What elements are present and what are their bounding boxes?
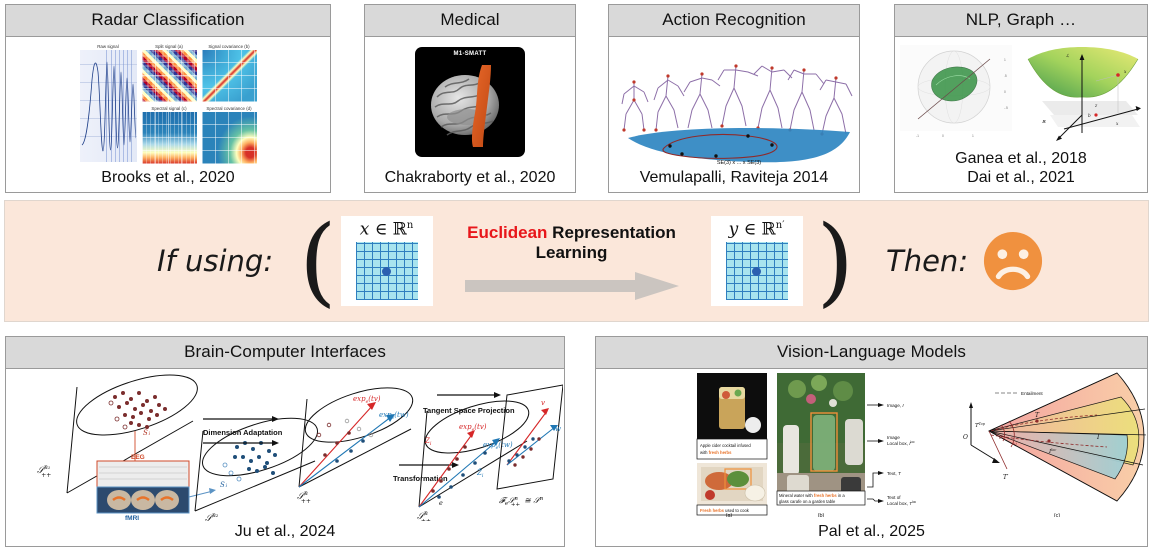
covariance-column: Split signal (a) Signal covariance (b) S… bbox=[142, 43, 257, 164]
hyperbolic-surface-plot: ℒ x x ℝ b z bbox=[1020, 41, 1146, 146]
label-exp-tw-1: expe(tw) bbox=[379, 411, 409, 421]
panel-caption-medical: Chakraborty et al., 2020 bbox=[365, 167, 575, 192]
svg-text:with fresh herbs: with fresh herbs bbox=[700, 450, 732, 455]
svg-text:1: 1 bbox=[1004, 58, 1006, 62]
label-image-local-box: Image bbox=[887, 435, 900, 440]
transform-arrow-icon bbox=[447, 272, 697, 300]
skeleton-manifold-figure: SE(3) x ... x SE(3) bbox=[612, 40, 857, 165]
learning-word: Learning bbox=[447, 243, 697, 263]
output-grid-illustration bbox=[726, 242, 788, 300]
output-space-math: y ∈ ℝn′ bbox=[729, 220, 785, 239]
label-spd-n2: 𝒮n₂++ bbox=[205, 512, 219, 521]
label-text-local-box: Text of bbox=[887, 495, 901, 500]
heatmap-signal-covariance bbox=[202, 50, 257, 102]
panel-figure-medical: M1-SMATT bbox=[365, 37, 575, 167]
label-tangent-space: 𝓕e𝒮n++≅ 𝒮n bbox=[499, 496, 544, 508]
panel-caption-action: Vemulapalli, Raviteja 2014 bbox=[609, 167, 859, 192]
panel-action-recognition: Action Recognition bbox=[608, 4, 860, 193]
skeleton bbox=[622, 82, 648, 130]
svg-text:Local box, Iloc: Local box, Iloc bbox=[887, 440, 915, 446]
svg-text:ω: ω bbox=[1013, 442, 1017, 447]
panel-figure-action: SE(3) x ... x SE(3) bbox=[609, 37, 859, 167]
svg-text:0: 0 bbox=[942, 134, 944, 138]
heatmap-spectral-covariance bbox=[202, 112, 257, 164]
panel-title-bci: Brain-Computer Interfaces bbox=[6, 337, 564, 369]
label-raw-signal: Raw signal bbox=[80, 43, 137, 50]
output-grid-point bbox=[752, 267, 761, 276]
label-split-signal: Split signal (a) bbox=[142, 43, 197, 50]
panel-medical: Medical M1-SMATT bbox=[364, 4, 576, 193]
label-tangent-space-projection: Tangent Space Projection bbox=[423, 406, 515, 415]
label-zi-1: Zi bbox=[424, 437, 432, 447]
label-signal-covariance: Signal covariance (b) bbox=[202, 43, 257, 50]
label-fmri: fMRI bbox=[125, 515, 139, 521]
svg-text:Apple cider cocktail infused: Apple cider cocktail infused bbox=[700, 443, 751, 448]
input-grid-illustration bbox=[356, 242, 418, 300]
panel-title-medical: Medical bbox=[365, 5, 575, 37]
input-space-math: x ∈ ℝn bbox=[360, 220, 414, 239]
panel-figure-vlm: Apple cider cocktail infused with fresh … bbox=[596, 369, 1147, 521]
raw-signal-plot bbox=[80, 50, 137, 162]
svg-text:-.5: -.5 bbox=[1004, 106, 1008, 110]
panel-title-action: Action Recognition bbox=[609, 5, 859, 37]
label-text-t: Text, T bbox=[887, 471, 902, 476]
euclidean-banner: If using: ( x ∈ ℝn Euclidean Representat… bbox=[4, 200, 1149, 322]
panel-nlp-graph: NLP, Graph … 1.5 0-.5 -101 bbox=[894, 4, 1148, 193]
brain-image: M1-SMATT bbox=[415, 47, 525, 157]
panel-caption-vlm: Pal et al., 2025 bbox=[596, 521, 1147, 546]
svg-text:.5: .5 bbox=[1004, 74, 1007, 78]
label-v-vector: v bbox=[541, 399, 545, 407]
representation-learning-label: Euclidean Representation Learning bbox=[447, 223, 697, 300]
label-eeg: EEG bbox=[131, 454, 145, 461]
label-subfig-b: (b) bbox=[818, 513, 825, 517]
label-exp-tv-1: expe(tv) bbox=[353, 395, 381, 405]
label-entailment: Entailment bbox=[1021, 391, 1043, 396]
label-se3: SE(3) x ... x SE(3) bbox=[716, 160, 760, 166]
label-spectral-signal: Spectral signal (c) bbox=[142, 105, 197, 112]
bci-pipeline-diagram: S i 𝒮n₁++ EEG fMRI bbox=[7, 369, 563, 521]
panel-caption-radar: Brooks et al., 2020 bbox=[6, 167, 330, 192]
panel-title-nlp: NLP, Graph … bbox=[895, 5, 1147, 37]
label-spd-n-2: 𝒮n++ bbox=[417, 510, 431, 521]
poincare-ball-plot: 1.5 0-.5 -101 bbox=[896, 41, 1016, 146]
label-origin: O bbox=[963, 434, 968, 441]
svg-text:ℝ: ℝ bbox=[1042, 119, 1046, 124]
panel-caption-nlp-2: Dai et al., 2021 bbox=[895, 169, 1147, 192]
euclidean-highlight: Euclidean bbox=[467, 223, 547, 242]
svg-text:0: 0 bbox=[1004, 90, 1006, 94]
svg-text:Mineral water with fresh herbs: Mineral water with fresh herbs in a bbox=[779, 493, 845, 498]
panel-figure-bci: S i 𝒮n₁++ EEG fMRI bbox=[6, 369, 564, 521]
label-spd-n1: 𝒮n₁++ bbox=[37, 464, 51, 479]
panel-caption-bci: Ju et al., 2024 bbox=[6, 521, 564, 546]
svg-text:glass carafe on a garden table: glass carafe on a garden table bbox=[779, 499, 836, 504]
input-space-card: x ∈ ℝn bbox=[341, 216, 433, 306]
input-grid-point bbox=[382, 267, 391, 276]
label-w-vector: w bbox=[555, 425, 561, 433]
label-si-bottom: S i bbox=[220, 481, 228, 489]
banner-if-using-label: If using: bbox=[157, 244, 273, 278]
nlp-figure-art: 1.5 0-.5 -101 bbox=[896, 41, 1146, 146]
vlm-figure-diagram: Apple cider cocktail infused with fresh … bbox=[597, 369, 1146, 517]
label-e-point: e bbox=[439, 499, 443, 507]
label-subfig-c: (c) bbox=[1054, 513, 1061, 517]
label-dimension-adaptation: Dimension Adaptation bbox=[203, 428, 283, 437]
label-t-prime: T′ bbox=[1003, 474, 1009, 481]
banner-then-label: Then: bbox=[886, 244, 968, 278]
label-t-top: TTop bbox=[975, 422, 986, 429]
svg-text:1: 1 bbox=[972, 134, 974, 138]
panel-radar-classification: Radar Classification Raw signal bbox=[5, 4, 331, 193]
label-spd-n-1: 𝒮n++ bbox=[297, 490, 311, 505]
panel-figure-radar: Raw signal Split signal bbox=[6, 37, 330, 167]
svg-text:b: b bbox=[1088, 113, 1091, 118]
label-image-i: Image, I bbox=[887, 403, 904, 408]
svg-text:-1: -1 bbox=[916, 134, 919, 138]
sad-face-icon bbox=[982, 230, 1044, 292]
panel-title-vlm: Vision-Language Models bbox=[596, 337, 1147, 369]
svg-text:Local box, Tloc: Local box, Tloc bbox=[887, 500, 917, 506]
label-spectral-covariance: Spectral covariance (d) bbox=[202, 105, 257, 112]
panel-figure-nlp: 1.5 0-.5 -101 bbox=[895, 37, 1147, 148]
output-space-card: y ∈ ℝn′ bbox=[711, 216, 803, 306]
brain-illustration bbox=[415, 47, 525, 157]
label-exp-tv-2: expe(tv) bbox=[459, 423, 487, 433]
radar-figure-art: Raw signal Split signal bbox=[80, 41, 257, 164]
panel-vlm: Vision-Language Models Apple cider cockt… bbox=[595, 336, 1148, 547]
representation-word: Representation bbox=[547, 223, 675, 242]
label-zi-2: Ẑi bbox=[476, 468, 484, 479]
label-subfig-a: (a) bbox=[726, 513, 733, 517]
raw-signal-block: Raw signal bbox=[80, 43, 137, 162]
heatmap-spectral-signal bbox=[142, 112, 197, 164]
label-m1-smatt: M1-SMATT bbox=[415, 51, 525, 57]
heatmap-split-signal bbox=[142, 50, 197, 102]
panel-bci: Brain-Computer Interfaces S i 𝒮n₁ bbox=[5, 336, 565, 547]
panel-title-radar: Radar Classification bbox=[6, 5, 330, 37]
label-si-top: S i bbox=[143, 429, 151, 437]
svg-text:θ: θ bbox=[999, 435, 1002, 441]
